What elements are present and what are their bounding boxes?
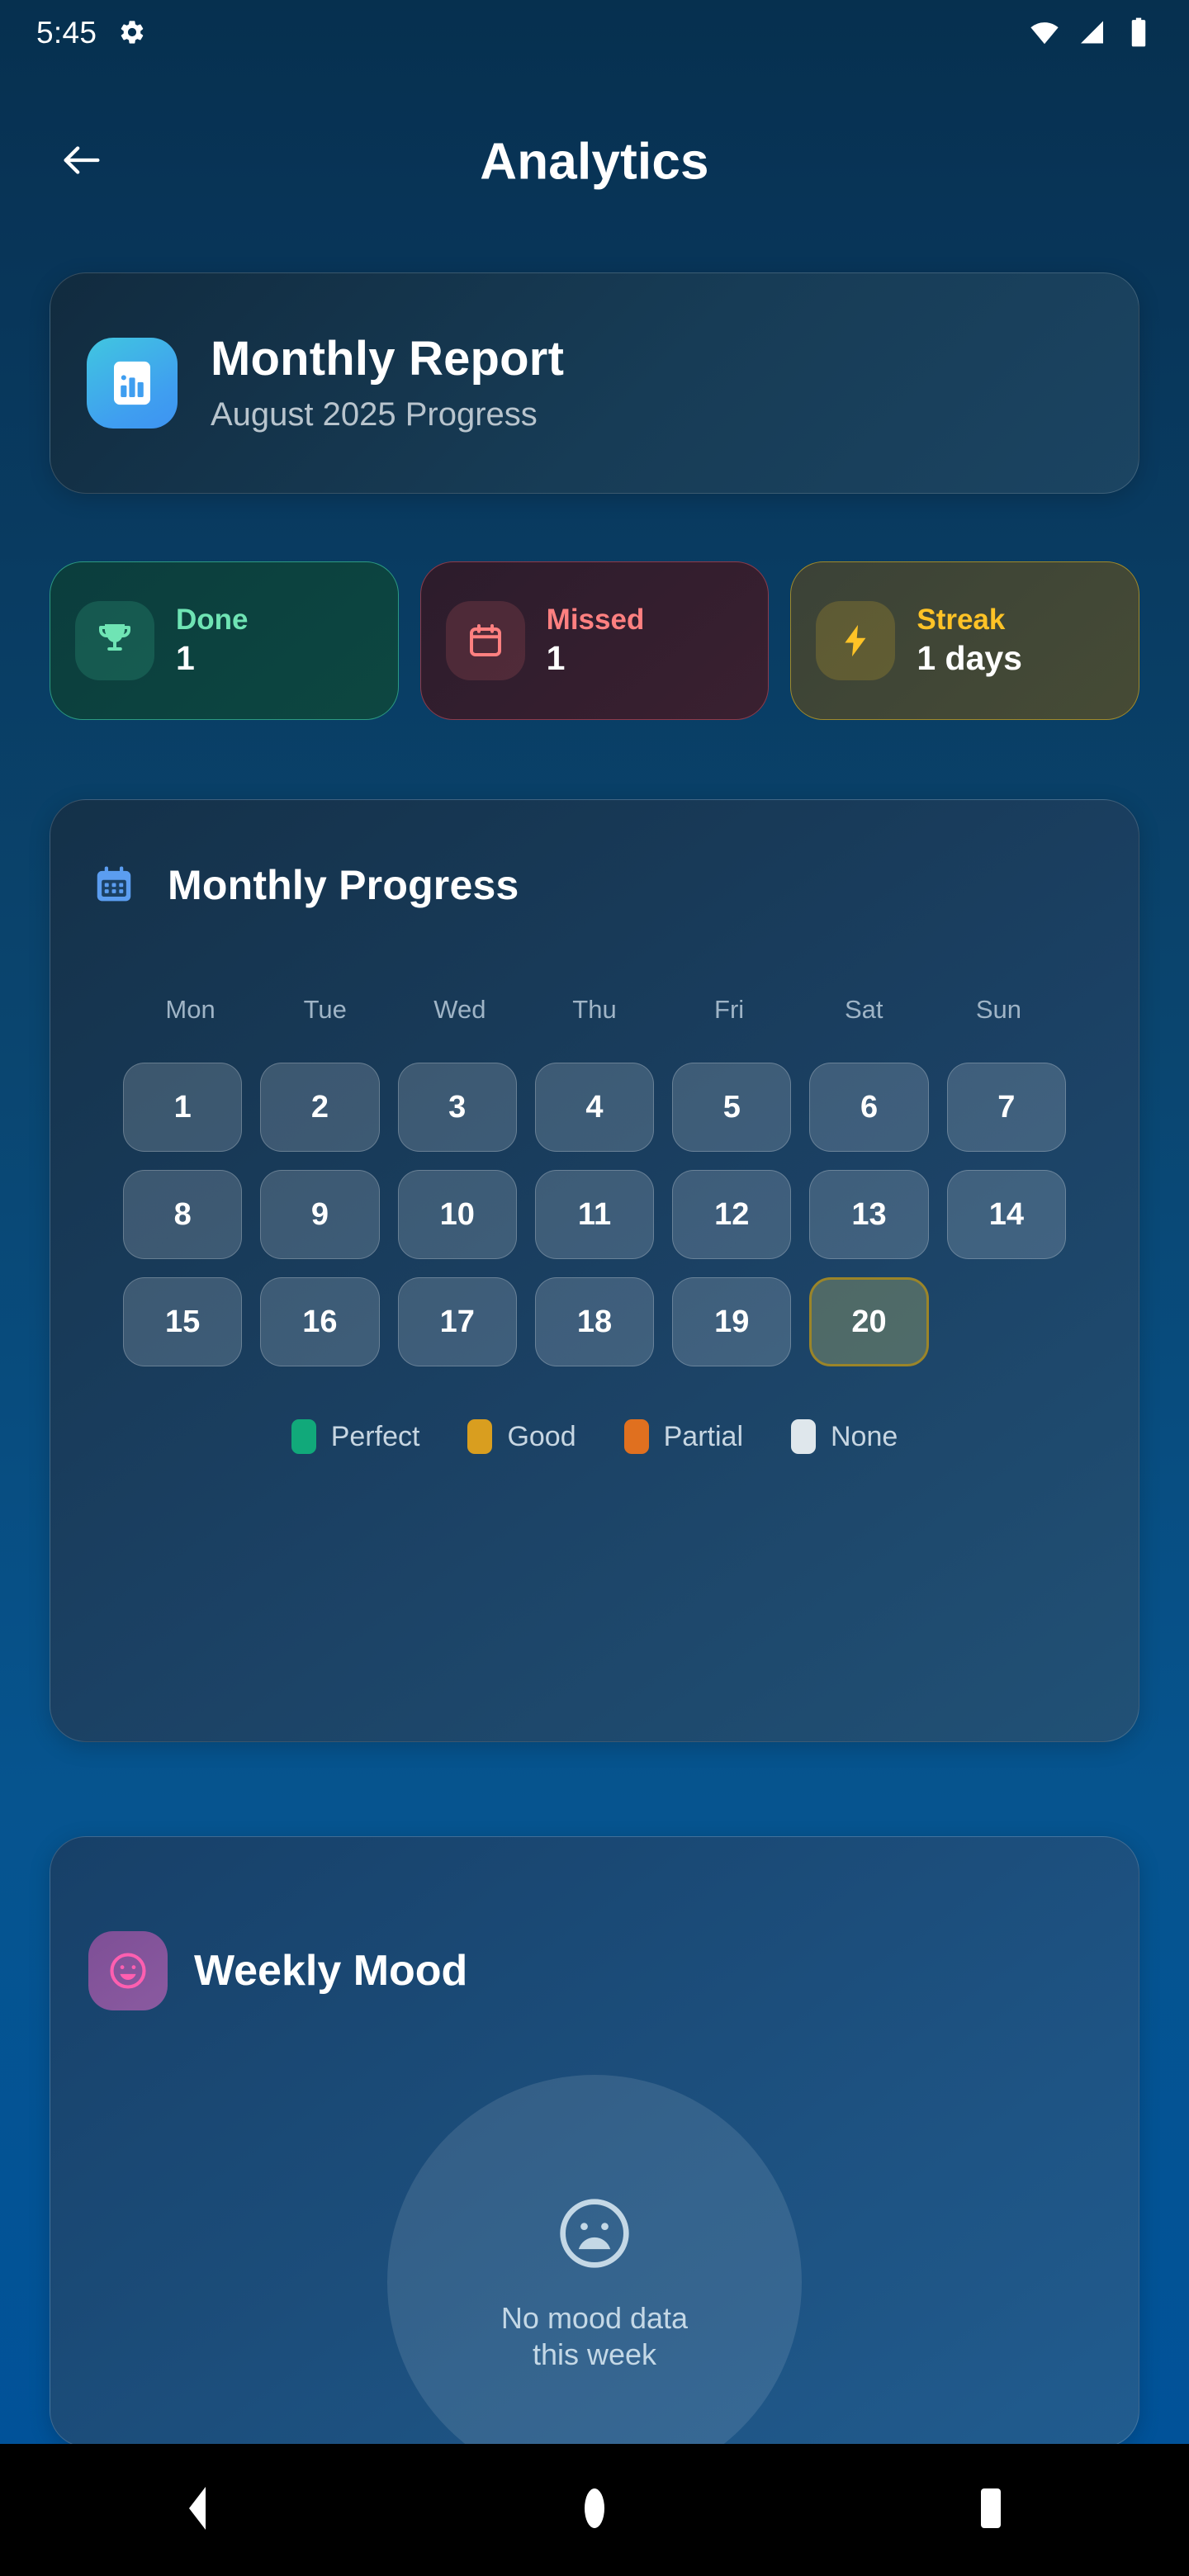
- nav-home-circle-icon: [580, 2485, 609, 2536]
- calendar-day-cell[interactable]: 15: [123, 1277, 242, 1366]
- nav-recents-square-icon: [978, 2485, 1003, 2536]
- legend-swatch-none: [791, 1419, 816, 1454]
- battery-icon: [1126, 17, 1151, 48]
- legend-swatch-partial: [624, 1419, 649, 1454]
- wifi-icon: [1029, 17, 1060, 48]
- weekly-mood-empty-text: No mood data this week: [501, 2300, 688, 2373]
- monthly-report-card[interactable]: Monthly Report August 2025 Progress: [50, 272, 1139, 494]
- calendar-day-cell[interactable]: 10: [398, 1170, 517, 1259]
- legend-item-perfect: Perfect: [291, 1419, 420, 1454]
- sad-face-icon: [553, 2192, 636, 2279]
- weekday-label: Tue: [258, 995, 392, 1025]
- calendar-icon: [446, 601, 525, 680]
- legend-item-good: Good: [467, 1419, 576, 1454]
- calendar-day-cell[interactable]: 17: [398, 1277, 517, 1366]
- calendar-day-cell[interactable]: 6: [809, 1063, 928, 1152]
- legend-swatch-perfect: [291, 1419, 316, 1454]
- monthly-progress-header: Monthly Progress: [50, 800, 1139, 909]
- calendar-day-cell[interactable]: 9: [260, 1170, 379, 1259]
- calendar-day-cell[interactable]: 11: [535, 1170, 654, 1259]
- calendar-day-cell[interactable]: 19: [672, 1277, 791, 1366]
- stat-chip-streak-text: Streak 1 days: [917, 605, 1022, 676]
- weekly-mood-empty-line2: this week: [501, 2337, 688, 2373]
- bar-chart-icon: [87, 338, 178, 429]
- stat-chip-streak-value: 1 days: [917, 641, 1022, 676]
- smiley-icon: [88, 1931, 168, 2010]
- legend-swatch-good: [467, 1419, 492, 1454]
- calendar-day-cell[interactable]: 4: [535, 1063, 654, 1152]
- weekday-label: Mon: [123, 995, 258, 1025]
- cellular-signal-icon: [1078, 17, 1108, 47]
- calendar-day-cell-today[interactable]: 20: [809, 1277, 928, 1366]
- calendar-day-cell[interactable]: 2: [260, 1063, 379, 1152]
- weekly-mood-empty-state: No mood data this week: [387, 2075, 802, 2447]
- legend-label-none: None: [831, 1421, 898, 1453]
- monthly-report-title: Monthly Report: [211, 334, 564, 385]
- calendar-day-grid: 1 2 3 4 5 6 7 8 9 10 11 12 13 14 15 16 1…: [123, 1063, 1066, 1366]
- status-bar-right: [1029, 17, 1151, 48]
- calendar-day-cell[interactable]: 16: [260, 1277, 379, 1366]
- status-bar: 5:45: [0, 0, 1189, 64]
- stat-chip-missed-value: 1: [547, 641, 645, 676]
- status-time: 5:45: [36, 17, 97, 48]
- calendar-day-cell[interactable]: 12: [672, 1170, 791, 1259]
- calendar-day-cell[interactable]: 18: [535, 1277, 654, 1366]
- legend-label-good: Good: [507, 1421, 576, 1453]
- calendar-day-cell[interactable]: 5: [672, 1063, 791, 1152]
- legend-label-partial: Partial: [664, 1421, 743, 1453]
- weekly-mood-title: Weekly Mood: [194, 1949, 467, 1992]
- trophy-icon: [75, 601, 154, 680]
- calendar-day-cell-empty: [947, 1277, 1066, 1366]
- stat-chip-missed-text: Missed 1: [547, 605, 645, 676]
- stat-chip-streak-label: Streak: [917, 605, 1022, 636]
- app-bar: Analytics: [0, 91, 1189, 233]
- monthly-progress-card: Monthly Progress Mon Tue Wed Thu Fri Sat…: [50, 799, 1139, 1742]
- calendar-day-cell[interactable]: 13: [809, 1170, 928, 1259]
- stat-chip-done[interactable]: Done 1: [50, 561, 399, 720]
- stat-chip-missed[interactable]: Missed 1: [420, 561, 770, 720]
- legend-item-none: None: [791, 1419, 898, 1454]
- android-nav-bar: [0, 2444, 1189, 2576]
- stat-chips: Done 1 Missed 1 Strea: [50, 561, 1139, 720]
- legend-item-partial: Partial: [624, 1419, 743, 1454]
- calendar-legend: Perfect Good Partial None: [50, 1419, 1139, 1454]
- weekday-label: Sat: [797, 995, 931, 1025]
- calendar-day-cell[interactable]: 7: [947, 1063, 1066, 1152]
- nav-home-button[interactable]: [528, 2444, 661, 2576]
- stat-chip-streak[interactable]: Streak 1 days: [790, 561, 1139, 720]
- weekday-label: Fri: [662, 995, 797, 1025]
- calendar-icon: [90, 861, 138, 909]
- weekday-label: Thu: [527, 995, 661, 1025]
- calendar-day-cell[interactable]: 3: [398, 1063, 517, 1152]
- legend-label-perfect: Perfect: [331, 1421, 420, 1453]
- nav-back-triangle-icon: [184, 2485, 212, 2536]
- nav-recents-button[interactable]: [925, 2444, 1057, 2576]
- page-title: Analytics: [0, 133, 1189, 192]
- calendar-day-cell[interactable]: 8: [123, 1170, 242, 1259]
- analytics-screen: 5:45: [0, 0, 1189, 2576]
- stat-chip-done-value: 1: [176, 641, 249, 676]
- weekday-label: Wed: [392, 995, 527, 1025]
- stat-chip-done-label: Done: [176, 605, 249, 636]
- monthly-progress-title: Monthly Progress: [168, 864, 519, 906]
- weekday-label: Sun: [931, 995, 1066, 1025]
- monthly-report-subtitle: August 2025 Progress: [211, 397, 564, 432]
- weekly-mood-card: Weekly Mood No mood data this week: [50, 1836, 1139, 2447]
- lightning-icon: [816, 601, 895, 680]
- weekly-mood-header: Weekly Mood: [50, 1837, 1139, 2010]
- calendar-day-cell[interactable]: 1: [123, 1063, 242, 1152]
- weekly-mood-empty-line1: No mood data: [501, 2300, 688, 2337]
- weekday-header-row: Mon Tue Wed Thu Fri Sat Sun: [123, 995, 1066, 1025]
- stat-chip-missed-label: Missed: [547, 605, 645, 636]
- calendar-day-cell[interactable]: 14: [947, 1170, 1066, 1259]
- gear-icon: [118, 18, 146, 46]
- monthly-report-text: Monthly Report August 2025 Progress: [211, 334, 564, 433]
- nav-back-button[interactable]: [132, 2444, 264, 2576]
- status-bar-left: 5:45: [36, 17, 146, 48]
- stat-chip-done-text: Done 1: [176, 605, 249, 676]
